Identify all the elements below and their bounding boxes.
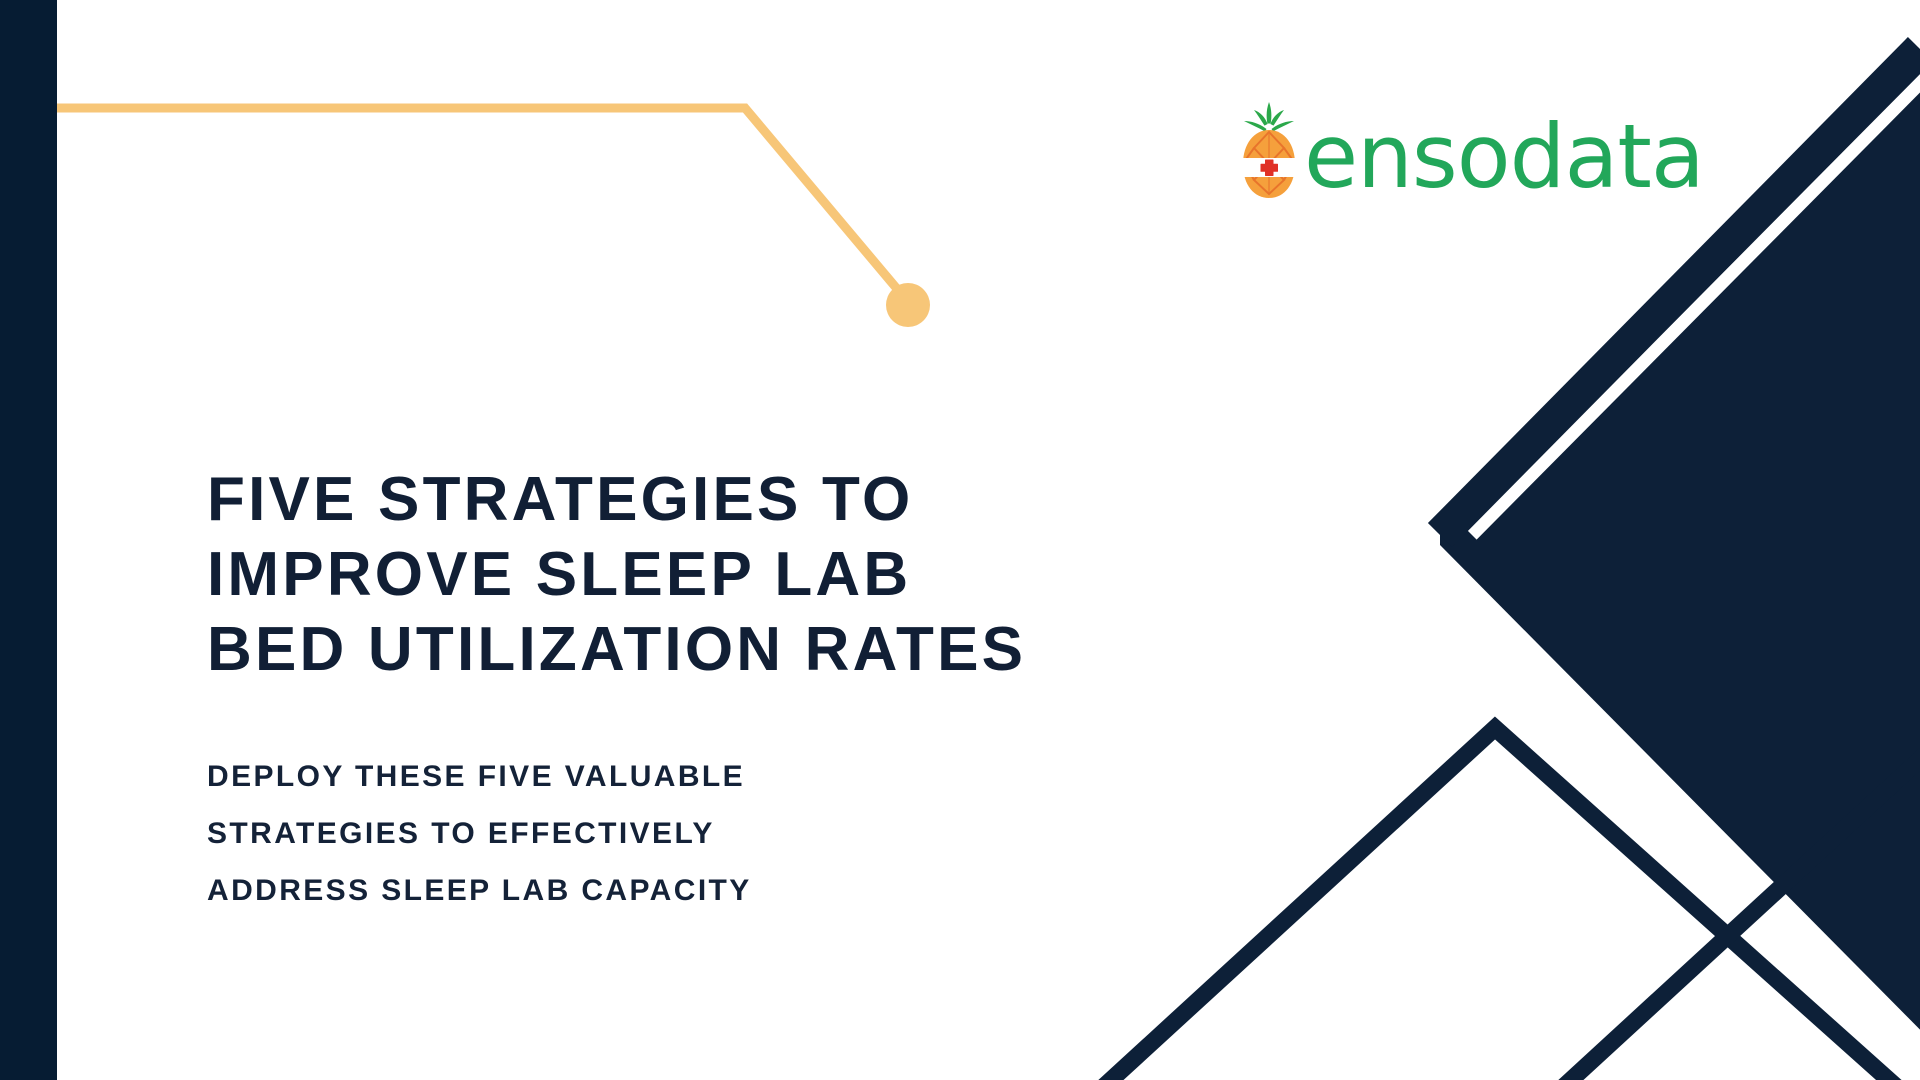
page-subtitle-line-1: DEPLOY THESE FIVE VALUABLE xyxy=(207,748,1047,805)
logo-wordmark: ensodata xyxy=(1304,113,1704,201)
page-subtitle-line-3: ADDRESS SLEEP LAB CAPACITY xyxy=(207,862,1047,919)
page-subtitle-line-2: STRATEGIES TO EFFECTIVELY xyxy=(207,805,1047,862)
pineapple-medical-cross-icon xyxy=(1238,100,1300,202)
leaf-crown-icon xyxy=(1244,102,1294,132)
lower-outline-chevron xyxy=(1100,728,1900,1080)
page-title-line-2: IMPROVE SLEEP LAB xyxy=(207,537,1297,612)
left-navy-bar xyxy=(0,0,57,1080)
orange-accent-polyline xyxy=(57,108,898,290)
page-title-line-3: BED UTILIZATION RATES xyxy=(207,612,1297,687)
page-title-line-1: FIVE STRATEGIES TO xyxy=(207,462,1297,537)
slide-canvas: ensodata FIVE STRATEGIES TO IMPROVE SLEE… xyxy=(0,0,1920,1080)
page-subtitle: DEPLOY THESE FIVE VALUABLE STRATEGIES TO… xyxy=(207,748,1047,919)
orange-accent-dot xyxy=(886,283,930,327)
lower-outline-chevron-secondary xyxy=(1560,750,1920,1080)
page-title: FIVE STRATEGIES TO IMPROVE SLEEP LAB BED… xyxy=(207,462,1297,687)
brand-logo[interactable]: ensodata xyxy=(1238,96,1668,206)
pineapple-body-icon xyxy=(1241,130,1297,198)
